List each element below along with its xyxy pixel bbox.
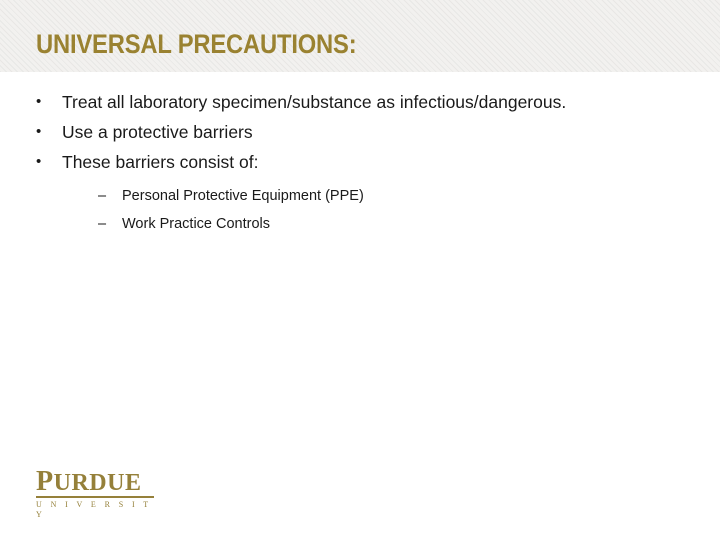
page-title: UNIVERSAL PRECAUTIONS: — [36, 28, 356, 60]
dash-marker: – — [98, 182, 106, 210]
sub-bullet-list: – Personal Protective Equipment (PPE) – … — [86, 182, 582, 238]
sub-list-item-text: Personal Protective Equipment (PPE) — [122, 188, 364, 204]
bullet-marker: • — [36, 148, 41, 176]
logo-wordmark: PURDUE — [36, 470, 156, 495]
list-item-text: These barriers consist of: — [62, 152, 258, 172]
bullet-list: • Treat all laboratory specimen/substanc… — [0, 88, 720, 238]
slide: UNIVERSAL PRECAUTIONS: • Treat all labor… — [0, 0, 720, 540]
sub-list-wrap: – Personal Protective Equipment (PPE) – … — [86, 182, 582, 238]
list-item: • Treat all laboratory specimen/substanc… — [0, 88, 582, 116]
sub-list-item-text: Work Practice Controls — [122, 216, 270, 232]
list-item: • Use a protective barriers — [0, 118, 582, 146]
logo-subtitle: U N I V E R S I T Y — [36, 500, 156, 520]
sub-list-item: – Work Practice Controls — [86, 210, 582, 238]
bullet-marker: • — [36, 118, 41, 146]
list-item: • These barriers consist of: – Personal … — [0, 148, 582, 238]
list-item-text: Treat all laboratory specimen/substance … — [62, 92, 566, 112]
logo-initial: P — [36, 466, 54, 497]
sub-list-item: – Personal Protective Equipment (PPE) — [86, 182, 582, 210]
dash-marker: – — [98, 210, 106, 238]
list-item-text: Use a protective barriers — [62, 122, 253, 142]
slide-body: • Treat all laboratory specimen/substanc… — [0, 88, 720, 240]
logo-name-rest: URDUE — [54, 470, 142, 496]
bullet-marker: • — [36, 88, 41, 116]
purdue-logo: PURDUE U N I V E R S I T Y — [36, 470, 156, 520]
